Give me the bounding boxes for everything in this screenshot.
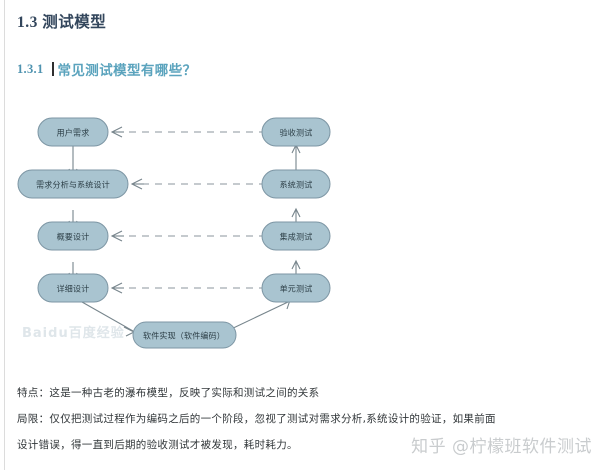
note-limitation-line-2: 设计错误，得一直到后期的验收测试才被发现，耗时耗力。 bbox=[17, 437, 298, 452]
node-label: 系统测试 bbox=[280, 180, 313, 190]
node-acceptance-test: 验收测试 bbox=[262, 118, 330, 146]
node-label: 单元测试 bbox=[280, 284, 313, 294]
note-characteristics: 特点：这是一种古老的瀑布模型，反映了实际和测试之间的关系 bbox=[17, 385, 319, 400]
node-unit-test: 单元测试 bbox=[262, 274, 330, 302]
baidu-watermark: Baidu百度经验 bbox=[22, 322, 125, 341]
node-label: 验收测试 bbox=[280, 128, 313, 138]
node-software-implementation: 软件实现（软件编码） bbox=[133, 322, 236, 348]
node-outline-design: 概要设计 bbox=[38, 222, 108, 250]
node-requirement-analysis-system-design: 需求分析与系统设计 bbox=[18, 170, 128, 198]
left-column-down-arrows bbox=[69, 146, 77, 281]
node-label: 详细设计 bbox=[57, 284, 90, 294]
node-label: 集成测试 bbox=[280, 232, 313, 242]
page-title: 1.3 测试模型 bbox=[17, 10, 106, 32]
node-label: 概要设计 bbox=[57, 232, 90, 242]
node-label: 用户需求 bbox=[57, 128, 90, 138]
text-cursor-icon bbox=[52, 62, 54, 76]
node-label: 软件实现（软件编码） bbox=[143, 331, 225, 341]
node-system-test: 系统测试 bbox=[262, 170, 330, 198]
node-integration-test: 集成测试 bbox=[262, 222, 330, 250]
document-page: 1.3 测试模型 1.3.1 常见测试模型有哪些？ bbox=[0, 0, 600, 470]
note-limitation-line-1: 局限：仅仅把测试过程作为编码之后的一个阶段，忽视了测试对需求分析,系统设计的验证… bbox=[17, 411, 496, 426]
node-user-requirement: 用户需求 bbox=[38, 118, 108, 146]
verification-dashed-links bbox=[112, 127, 266, 293]
node-detailed-design: 详细设计 bbox=[38, 274, 108, 302]
node-label: 需求分析与系统设计 bbox=[36, 180, 110, 190]
right-column-up-arrows bbox=[292, 145, 300, 280]
subsection-number: 1.3.1 bbox=[17, 62, 44, 77]
subsection-heading: 1.3.1 常见测试模型有哪些？ bbox=[17, 59, 197, 79]
subsection-title: 常见测试模型有哪些？ bbox=[58, 59, 197, 79]
zhihu-watermark: 知乎 @柠檬班软件测试 bbox=[411, 432, 592, 457]
